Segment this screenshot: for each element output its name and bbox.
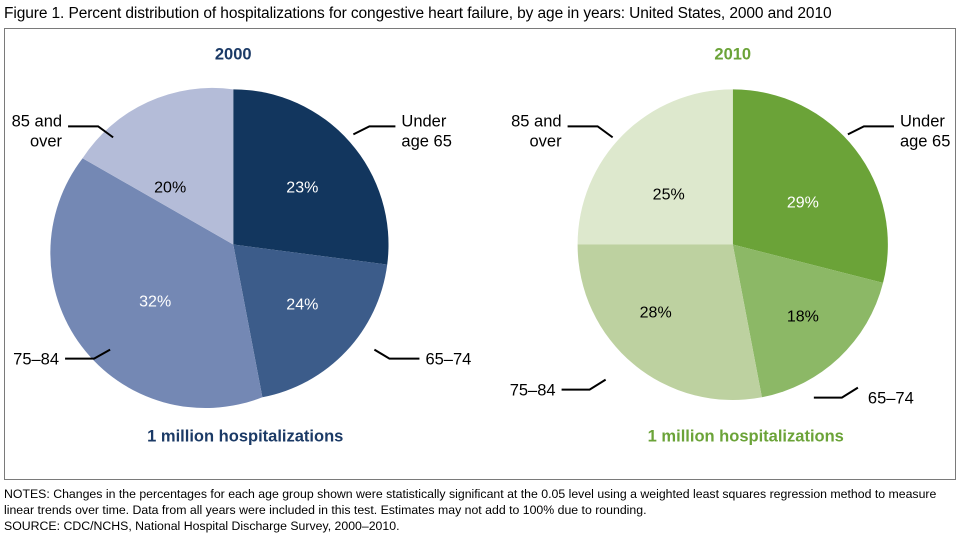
- notes-section: NOTES: Changes in the percentages for ea…: [0, 480, 960, 535]
- slice-value-2010-65-74: 18%: [787, 308, 819, 325]
- pie-charts-svg: 2000 23% 24% 32% 20% Under age 65 65–74: [5, 29, 955, 479]
- panel-footer-2010: 1 million hospitalizations: [648, 427, 844, 445]
- callout-2000-85-over-line2: over: [30, 132, 63, 150]
- callout-2000-under-65-line1: Under: [401, 112, 446, 130]
- callout-2010-65-74: 65–74: [868, 389, 914, 407]
- leader-line-2010-under-65: [848, 126, 894, 134]
- slice-value-2010-75-84: 28%: [640, 304, 672, 321]
- slice-value-2000-under-65: 23%: [286, 179, 318, 196]
- callout-2000-under-65-line2: age 65: [401, 132, 451, 150]
- slice-value-2000-65-74: 24%: [286, 296, 318, 313]
- panel-2010: 2010 29% 18% 28% 25% Under age 65 65–74: [510, 45, 951, 445]
- pie-slice-2010-85-over: [578, 89, 733, 244]
- leader-line-2010-85-over: [568, 126, 613, 137]
- callout-2010-under-65-line2: age 65: [900, 132, 950, 150]
- callout-2000-65-74: 65–74: [425, 350, 471, 368]
- panel-title-2000: 2000: [215, 45, 252, 63]
- pie-slice-2010-75-84: [578, 244, 762, 400]
- leader-line-2000-65-74: [374, 349, 419, 358]
- notes-text: NOTES: Changes in the percentages for ea…: [4, 486, 956, 518]
- panel-footer-2000: 1 million hospitalizations: [147, 427, 343, 445]
- slice-value-2010-85-over: 25%: [653, 186, 685, 203]
- callout-2010-85-over-line2: over: [529, 132, 562, 150]
- panel-2000: 2000 23% 24% 32% 20% Under age 65 65–74: [12, 45, 472, 445]
- slice-value-2000-85-over: 20%: [154, 179, 186, 196]
- slice-value-2010-under-65: 29%: [787, 194, 819, 211]
- callout-2010-75-84: 75–84: [510, 381, 556, 399]
- pie-slice-2000-under-65: [233, 89, 388, 264]
- source-text: SOURCE: CDC/NCHS, National Hospital Disc…: [4, 518, 956, 534]
- callout-2000-75-84: 75–84: [13, 350, 59, 368]
- leader-line-2010-75-84: [562, 379, 606, 389]
- leader-line-2010-65-74: [814, 387, 858, 397]
- slice-value-2000-75-84: 32%: [139, 293, 171, 310]
- callout-2000-85-over-line1: 85 and: [12, 112, 62, 130]
- chart-container: 2000 23% 24% 32% 20% Under age 65 65–74: [4, 28, 956, 480]
- callout-2010-85-over-line1: 85 and: [511, 112, 561, 130]
- leader-line-2000-under-65: [353, 126, 395, 134]
- panel-title-2010: 2010: [714, 45, 751, 63]
- callout-2010-under-65-line1: Under: [900, 112, 945, 130]
- figure-title: Figure 1. Percent distribution of hospit…: [0, 0, 960, 28]
